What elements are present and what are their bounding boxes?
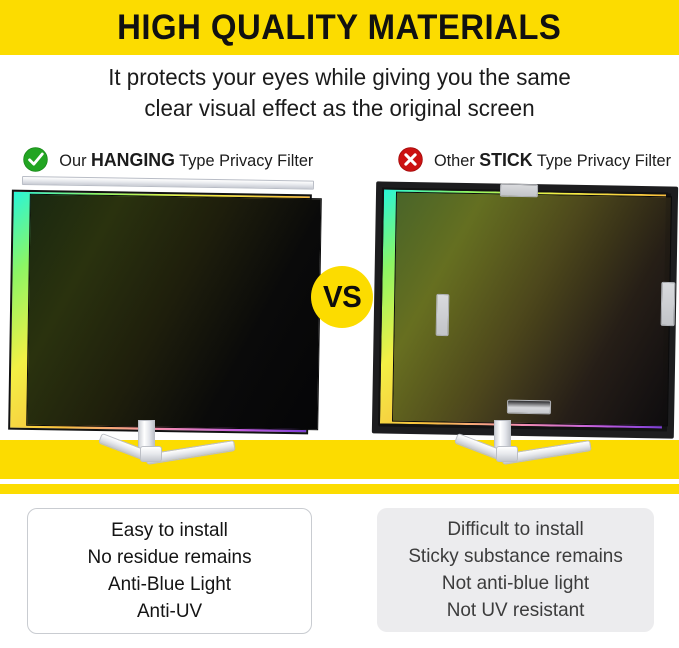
label-hanging-type: Our HANGING Type Privacy Filter: [22, 146, 319, 173]
subtitle: It protects your eyes while giving you t…: [10, 62, 669, 124]
label-hanging-emphasis: HANGING: [91, 149, 175, 170]
subtitle-line-2: clear visual effect as the original scre…: [10, 93, 669, 124]
adhesive-tab-bottom: [507, 400, 551, 415]
yellow-band-thin: [0, 484, 679, 494]
label-stick-suffix: Type Privacy Filter: [533, 151, 671, 170]
list-item: No residue remains: [87, 544, 251, 571]
red-x-icon: [397, 146, 424, 173]
list-item: Not UV resistant: [408, 597, 622, 624]
label-hanging-prefix: Our: [59, 151, 91, 170]
feature-box-cons: Difficult to install Sticky substance re…: [377, 508, 654, 632]
label-hanging-suffix: Type Privacy Filter: [175, 151, 313, 170]
monitor-stand-hub: [140, 446, 162, 462]
product-feature-graphic: HIGH QUALITY MATERIALS It protects your …: [0, 0, 679, 648]
monitor-screen-right: [392, 192, 672, 427]
list-item: Sticky substance remains: [408, 543, 622, 570]
green-check-icon: [22, 146, 49, 173]
adhesive-tab-right: [661, 282, 676, 326]
vs-label: VS: [323, 279, 361, 315]
adhesive-tab-left: [436, 294, 450, 336]
list-item: Anti-UV: [87, 598, 251, 625]
label-hanging-text: Our HANGING Type Privacy Filter: [59, 149, 313, 171]
label-stick-text: Other STICK Type Privacy Filter: [434, 149, 671, 171]
monitor-hanging-type: [0, 170, 330, 470]
feature-list-cons: Difficult to install Sticky substance re…: [408, 516, 622, 624]
hanging-bar: [22, 176, 314, 190]
monitor-screen-left: [26, 194, 322, 431]
list-item: Difficult to install: [408, 516, 622, 543]
label-stick-prefix: Other: [434, 151, 479, 170]
monitor-stick-type: [372, 172, 679, 470]
label-stick-type: Other STICK Type Privacy Filter: [397, 146, 676, 173]
monitor-stand-hub-2: [496, 446, 518, 462]
list-item: Easy to install: [87, 517, 251, 544]
feature-box-pros: Easy to install No residue remains Anti-…: [27, 508, 312, 634]
subtitle-line-1: It protects your eyes while giving you t…: [10, 62, 669, 93]
label-stick-emphasis: STICK: [479, 149, 532, 170]
header-band: HIGH QUALITY MATERIALS: [0, 0, 679, 55]
vs-badge: VS: [311, 266, 373, 328]
list-item: Not anti-blue light: [408, 570, 622, 597]
feature-list-pros: Easy to install No residue remains Anti-…: [87, 517, 251, 625]
adhesive-tab-top: [500, 184, 538, 198]
list-item: Anti-Blue Light: [87, 571, 251, 598]
page-title: HIGH QUALITY MATERIALS: [117, 8, 561, 48]
